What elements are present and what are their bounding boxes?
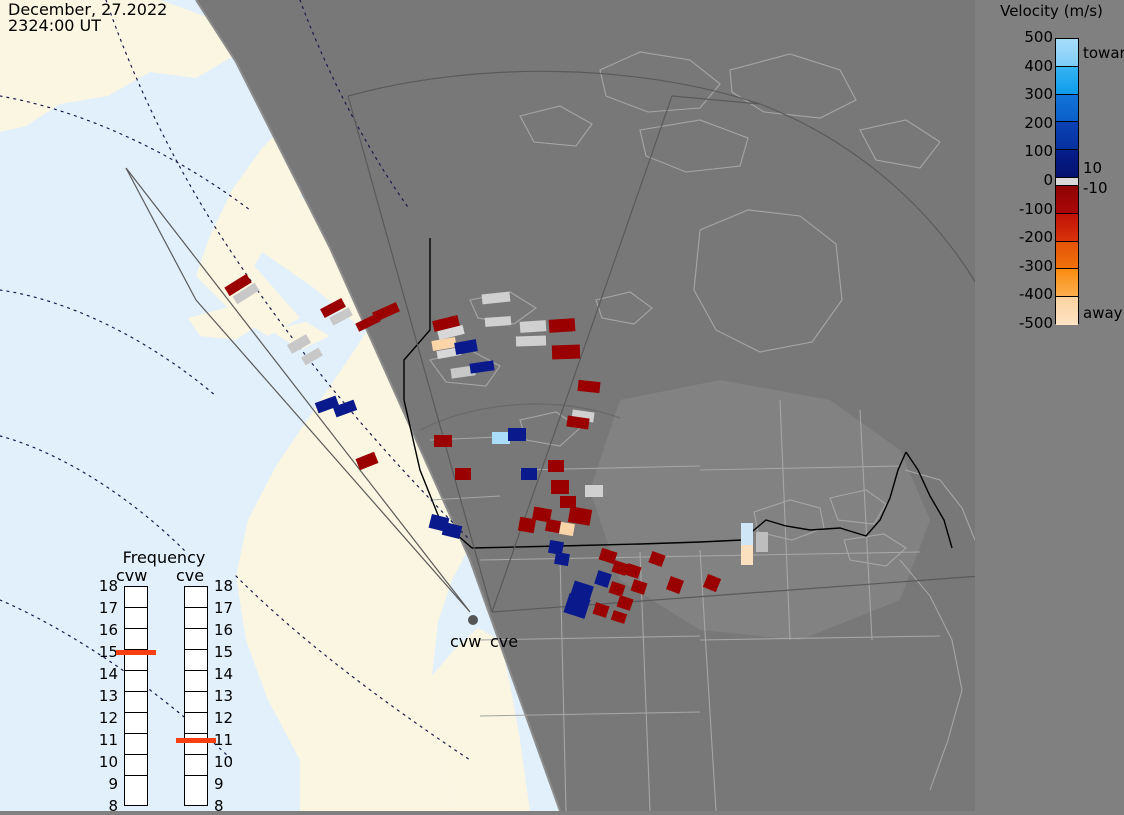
frequency-scale-cell — [185, 587, 207, 608]
velocity-cell — [577, 380, 600, 393]
velocity-cell — [551, 480, 569, 494]
velocity-cell — [560, 496, 576, 508]
velocity-cell — [741, 523, 753, 545]
frequency-scale-cell — [125, 713, 147, 734]
colorbar-zero-gap — [1056, 178, 1078, 186]
frequency-tick-label: 17 — [214, 599, 240, 617]
colorbar-segment — [1056, 150, 1078, 178]
frequency-tick-label: 11 — [92, 731, 118, 749]
colorbar-tick-label: -300 — [979, 257, 1053, 275]
velocity-cell — [508, 428, 526, 441]
frequency-tick-label: 10 — [92, 753, 118, 771]
colorbar-segment — [1056, 67, 1078, 95]
velocity-cell — [545, 519, 561, 533]
colorbar-segment — [1056, 214, 1078, 242]
frequency-scale-cell — [185, 713, 207, 734]
frequency-tick-label: 16 — [214, 621, 240, 639]
frequency-tick-label: 10 — [214, 753, 240, 771]
superdarn-fan-plot: cvw cve December, 27.2022 2324:00 UT Vel… — [0, 0, 1124, 811]
colorbar-segment — [1056, 122, 1078, 150]
colorbar-tick-label: -200 — [979, 228, 1053, 246]
colorbar-segment — [1056, 269, 1078, 297]
frequency-scale-cell — [185, 671, 207, 692]
frequency-scale-cell — [125, 671, 147, 692]
velocity-cell — [455, 468, 471, 480]
colorbar-minus10-label: -10 — [1083, 179, 1108, 197]
colorbar-tick-label: 400 — [979, 57, 1053, 75]
frequency-scale-column — [124, 586, 148, 806]
colorbar-toward-label: toward — [1083, 44, 1124, 62]
colorbar-tick-label: -500 — [979, 314, 1053, 332]
frequency-tick-label: 11 — [214, 731, 240, 749]
frequency-tick-label: 13 — [214, 687, 240, 705]
velocity-cell — [516, 335, 546, 346]
frequency-title: Frequency — [84, 548, 244, 567]
colorbar-segment — [1056, 297, 1078, 325]
velocity-cell — [559, 522, 575, 536]
radar-site-dot — [468, 615, 478, 625]
frequency-marker — [116, 650, 156, 655]
velocity-cell — [741, 545, 753, 565]
velocity-cell — [549, 318, 576, 333]
frequency-tick-label: 8 — [92, 797, 118, 815]
frequency-tick-label: 13 — [92, 687, 118, 705]
frequency-marker — [176, 738, 216, 743]
colorbar-title: Velocity (m/s) — [979, 2, 1124, 20]
colorbar-segment — [1056, 39, 1078, 67]
velocity-cell — [554, 552, 570, 566]
frequency-tick-label: 12 — [214, 709, 240, 727]
colorbar-gradient-box — [1055, 38, 1079, 324]
frequency-scale-cell — [185, 650, 207, 671]
colorbar-tick-label: 0 — [979, 171, 1053, 189]
frequency-tick-label: 9 — [214, 775, 240, 793]
velocity-cell — [521, 468, 537, 480]
frequency-scale-cell — [125, 587, 147, 608]
site-label-cvw: cvw — [450, 632, 481, 651]
colorbar-tick-label: 100 — [979, 142, 1053, 160]
site-label-cve: cve — [490, 632, 518, 651]
frequency-scale-cell — [185, 692, 207, 713]
velocity-cell — [520, 320, 547, 333]
velocity-cell — [434, 435, 452, 447]
plot-time: 2324:00 UT — [8, 17, 101, 34]
frequency-tick-label: 14 — [92, 665, 118, 683]
frequency-radar-name: cve — [176, 566, 204, 585]
frequency-tick-label: 8 — [214, 797, 240, 815]
colorbar-tick-label: 300 — [979, 85, 1053, 103]
frequency-tick-label: 16 — [92, 621, 118, 639]
frequency-tick-label: 9 — [92, 775, 118, 793]
frequency-scale-cell — [125, 692, 147, 713]
frequency-scale-cell — [125, 776, 147, 797]
colorbar-tick-label: -100 — [979, 200, 1053, 218]
colorbar-away-label: away — [1083, 304, 1123, 322]
frequency-tick-label: 15 — [214, 643, 240, 661]
frequency-scale-cell — [125, 755, 147, 776]
frequency-panel: Frequency cvw18171615141312111098cve1817… — [84, 548, 244, 788]
frequency-scale-cell — [125, 629, 147, 650]
frequency-tick-label: 12 — [92, 709, 118, 727]
frequency-scale-cell — [185, 776, 207, 797]
frequency-scale-cell — [185, 629, 207, 650]
velocity-cell — [585, 485, 603, 497]
colorbar-tick-label: -400 — [979, 285, 1053, 303]
frequency-scale-cell — [125, 608, 147, 629]
velocity-cell — [552, 345, 580, 360]
colorbar-segment — [1056, 95, 1078, 123]
velocity-cell — [756, 532, 768, 552]
frequency-scale-cell — [125, 734, 147, 755]
frequency-tick-label: 14 — [214, 665, 240, 683]
frequency-tick-label: 18 — [92, 577, 118, 595]
colorbar-segment — [1056, 186, 1078, 214]
frequency-scale-cell — [185, 755, 207, 776]
frequency-radar-name: cvw — [116, 566, 147, 585]
velocity-cell — [548, 460, 564, 472]
velocity-cell — [492, 432, 510, 444]
colorbar-plus10-label: 10 — [1083, 159, 1102, 177]
frequency-scale-column — [184, 586, 208, 806]
frequency-tick-label: 17 — [92, 599, 118, 617]
colorbar-segment — [1056, 242, 1078, 270]
frequency-tick-label: 15 — [92, 643, 118, 661]
frequency-scale-cell — [185, 608, 207, 629]
colorbar-tick-label: 500 — [979, 28, 1053, 46]
colorbar-tick-label: 200 — [979, 114, 1053, 132]
velocity-cell — [485, 316, 512, 327]
velocity-colorbar: Velocity (m/s) 5004003002001000-100-200-… — [975, 0, 1124, 811]
frequency-tick-label: 18 — [214, 577, 240, 595]
